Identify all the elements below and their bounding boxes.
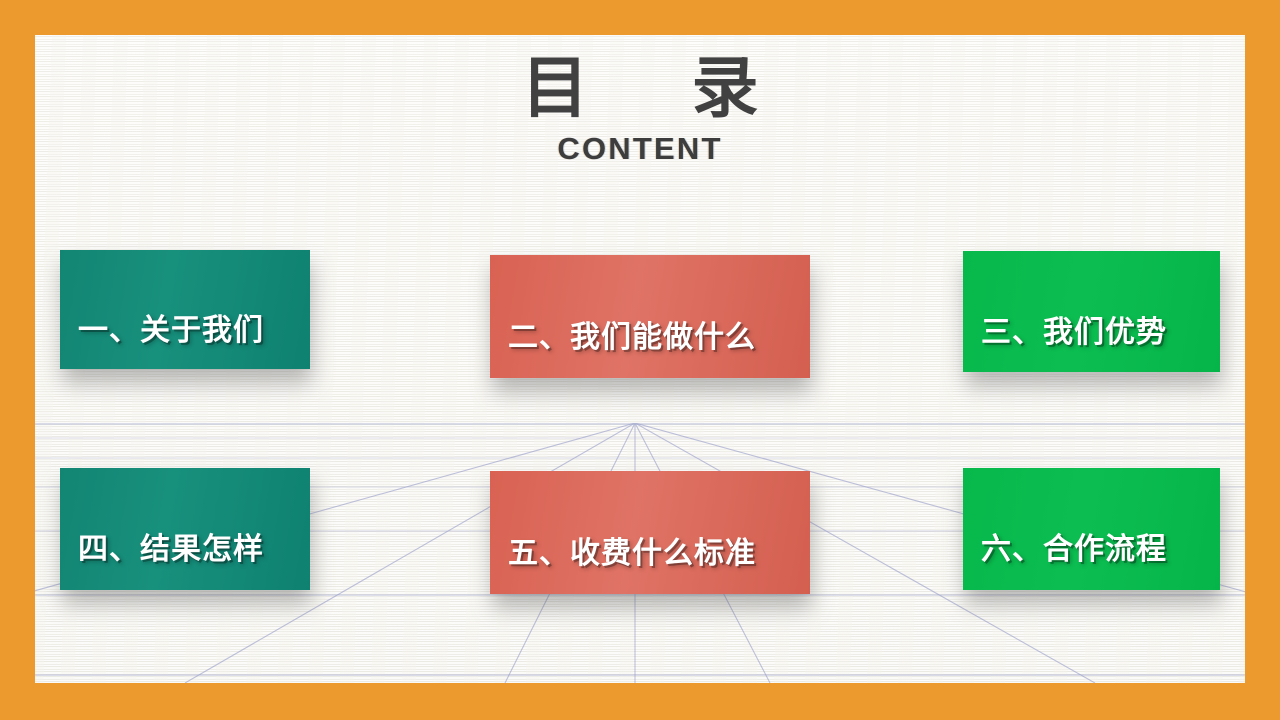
content-item-2[interactable]: 二、我们能做什么 — [490, 255, 810, 378]
content-item-3-label: 三、我们优势 — [963, 273, 1220, 351]
content-item-4[interactable]: 四、结果怎样 — [60, 468, 310, 590]
content-item-2-label: 二、我们能做什么 — [490, 278, 810, 356]
content-item-5[interactable]: 五、收费什么标准 — [490, 471, 810, 594]
content-item-4-label: 四、结果怎样 — [60, 490, 310, 568]
content-item-5-label: 五、收费什么标准 — [490, 494, 810, 572]
page-subtitle: CONTENT — [35, 131, 1245, 167]
content-item-3[interactable]: 三、我们优势 — [963, 251, 1220, 372]
slide-panel: 目 录 CONTENT 一、关于我们 二、我们能做什么 三、我们优势 四、结果怎… — [35, 35, 1245, 683]
content-item-1[interactable]: 一、关于我们 — [60, 250, 310, 369]
slide-canvas: 目 录 CONTENT 一、关于我们 二、我们能做什么 三、我们优势 四、结果怎… — [0, 0, 1280, 720]
content-item-6[interactable]: 六、合作流程 — [963, 468, 1220, 590]
title-block: 目 录 CONTENT — [35, 53, 1245, 167]
content-item-6-label: 六、合作流程 — [963, 490, 1220, 568]
content-item-1-label: 一、关于我们 — [60, 271, 310, 349]
page-title: 目 录 — [35, 53, 1245, 123]
